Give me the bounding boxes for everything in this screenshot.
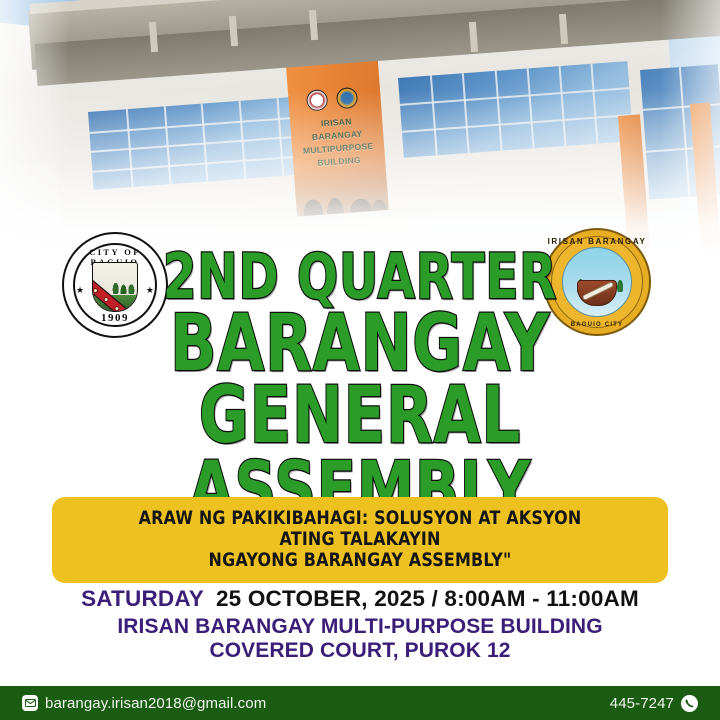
event-date-time: 25 OCTOBER, 2025 / 8:00AM - 11:00AM <box>216 586 639 611</box>
event-poster: IRISAN BARANGAY MULTIPURPOSE BUILDING CI… <box>0 0 720 720</box>
contact-footer: barangay.irisan2018@gmail.com 445-7247 <box>0 686 720 720</box>
theme-line-1: ARAW NG PAKIKIBAHAGI: SOLUSYON AT AKSYON… <box>115 508 606 550</box>
building-photo: IRISAN BARANGAY MULTIPURPOSE BUILDING <box>0 0 720 250</box>
irisan-seal-top-text: IRISAN BARANGAY <box>545 237 649 246</box>
poster-title: 2ND QUARTER BARANGAY GENERAL ASSEMBLY <box>0 248 720 523</box>
phone-number: 445-7247 <box>610 695 674 712</box>
event-venue-line-2: COVERED COURT, PUROK 12 <box>0 639 720 663</box>
photo-fade-bottom <box>0 90 720 250</box>
title-line-2: BARANGAY GENERAL <box>79 309 641 453</box>
event-datetime-row: SATURDAY25 OCTOBER, 2025 / 8:00AM - 11:0… <box>0 586 720 612</box>
title-line-1: 2ND QUARTER <box>79 248 641 305</box>
phone-icon <box>681 695 698 712</box>
envelope-icon <box>22 695 38 711</box>
phone-contact[interactable]: 445-7247 <box>610 695 698 712</box>
email-contact[interactable]: barangay.irisan2018@gmail.com <box>22 695 266 712</box>
theme-line-2: NGAYONG BARANGAY ASSEMBLY" <box>115 550 606 571</box>
event-venue-line-1: IRISAN BARANGAY MULTI-PURPOSE BUILDING <box>0 615 720 639</box>
theme-banner: ARAW NG PAKIKIBAHAGI: SOLUSYON AT AKSYON… <box>52 497 668 583</box>
event-day: SATURDAY <box>81 586 204 611</box>
email-address: barangay.irisan2018@gmail.com <box>45 695 266 712</box>
event-details: SATURDAY25 OCTOBER, 2025 / 8:00AM - 11:0… <box>0 586 720 663</box>
